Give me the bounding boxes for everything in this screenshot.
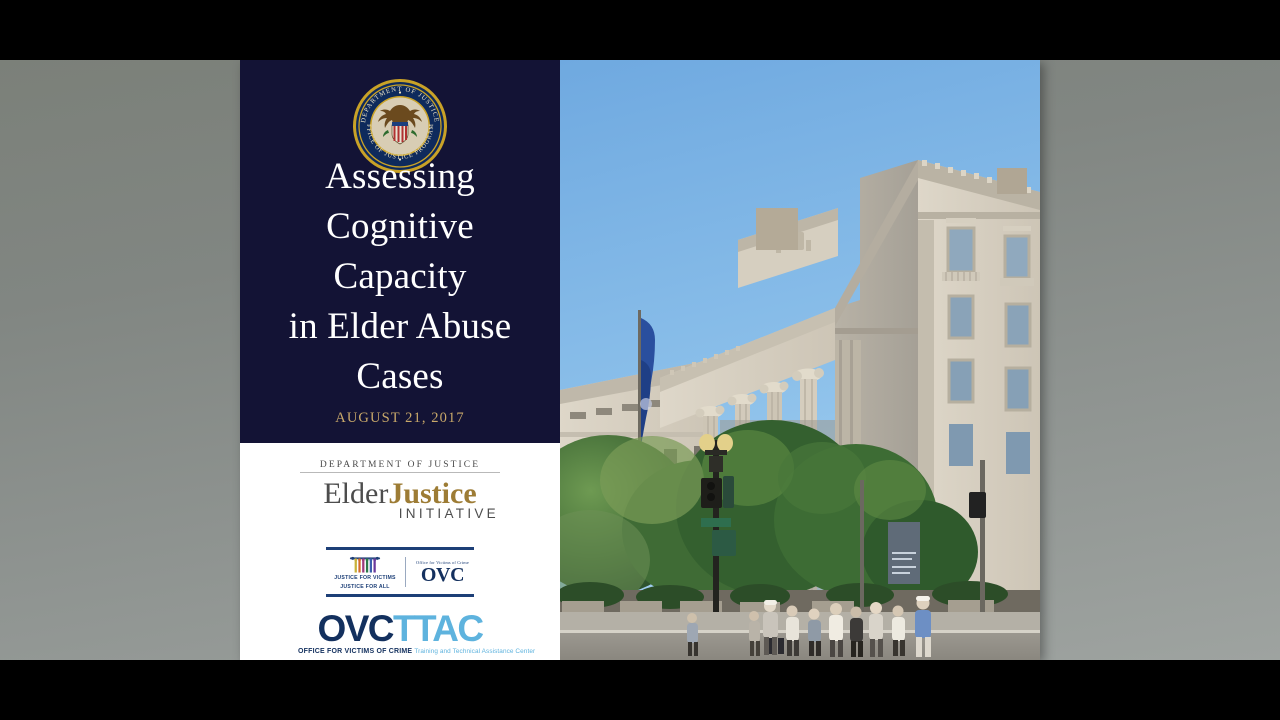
ttac-wordmark: OVCTTAC xyxy=(298,610,502,647)
title-line-1: Assessing xyxy=(246,152,554,202)
letterbox-top xyxy=(0,0,1280,60)
ttac-subtitle-dark: OFFICE FOR VICTIMS OF CRIME xyxy=(298,648,412,655)
ovc-acronym: OVC xyxy=(411,565,474,585)
ovc-tagline-line-1: JUSTICE FOR VICTIMS xyxy=(334,575,396,582)
ovc-ttac-logo: OVCTTAC OFFICE FOR VICTIMS OF CRIME Trai… xyxy=(298,610,502,655)
eji-eyebrow: DEPARTMENT OF JUSTICE xyxy=(300,460,500,473)
ovc-tagline-line-2: JUSTICE FOR ALL xyxy=(340,584,389,591)
ovc-tagline-block: JUSTICE FOR VICTIMS JUSTICE FOR ALL xyxy=(326,554,404,591)
ovc-divider xyxy=(405,557,406,587)
doj-building-photo xyxy=(560,60,1040,660)
presentation-viewer: DEPARTMENT OF JUSTICE OFFICE OF JUSTICE … xyxy=(0,0,1280,720)
eji-wordmark: ElderJustice xyxy=(300,478,500,509)
justice-column-icon xyxy=(348,556,382,573)
ovc-acronym-block: Office for Victims of Crime OVC xyxy=(411,560,474,585)
ovc-logo: JUSTICE FOR VICTIMS JUSTICE FOR ALL Offi… xyxy=(326,547,474,597)
ttac-subtitle: OFFICE FOR VICTIMS OF CRIME Training and… xyxy=(298,648,502,655)
eji-word-elder: Elder xyxy=(323,477,388,510)
ttac-word-ovc: OVC xyxy=(318,608,393,649)
slide-date: AUGUST 21, 2017 xyxy=(240,410,560,427)
elder-justice-initiative-logo: DEPARTMENT OF JUSTICE ElderJustice INITI… xyxy=(300,460,500,521)
slide-title: Assessing Cognitive Capacity in Elder Ab… xyxy=(246,152,554,402)
ttac-word-ttac: TTAC xyxy=(393,608,483,649)
slide-canvas: DEPARTMENT OF JUSTICE OFFICE OF JUSTICE … xyxy=(240,60,1040,660)
slide-stage: DEPARTMENT OF JUSTICE OFFICE OF JUSTICE … xyxy=(0,60,1280,660)
title-line-5: Cases xyxy=(246,352,554,402)
ttac-subtitle-light: Training and Technical Assistance Center xyxy=(414,648,535,655)
title-line-4: in Elder Abuse xyxy=(246,302,554,352)
letterbox-bottom xyxy=(0,660,1280,720)
title-line-2: Cognitive xyxy=(246,202,554,252)
title-panel: DEPARTMENT OF JUSTICE OFFICE OF JUSTICE … xyxy=(240,60,560,443)
slide-left-column: DEPARTMENT OF JUSTICE OFFICE OF JUSTICE … xyxy=(240,60,560,660)
title-line-3: Capacity xyxy=(246,252,554,302)
